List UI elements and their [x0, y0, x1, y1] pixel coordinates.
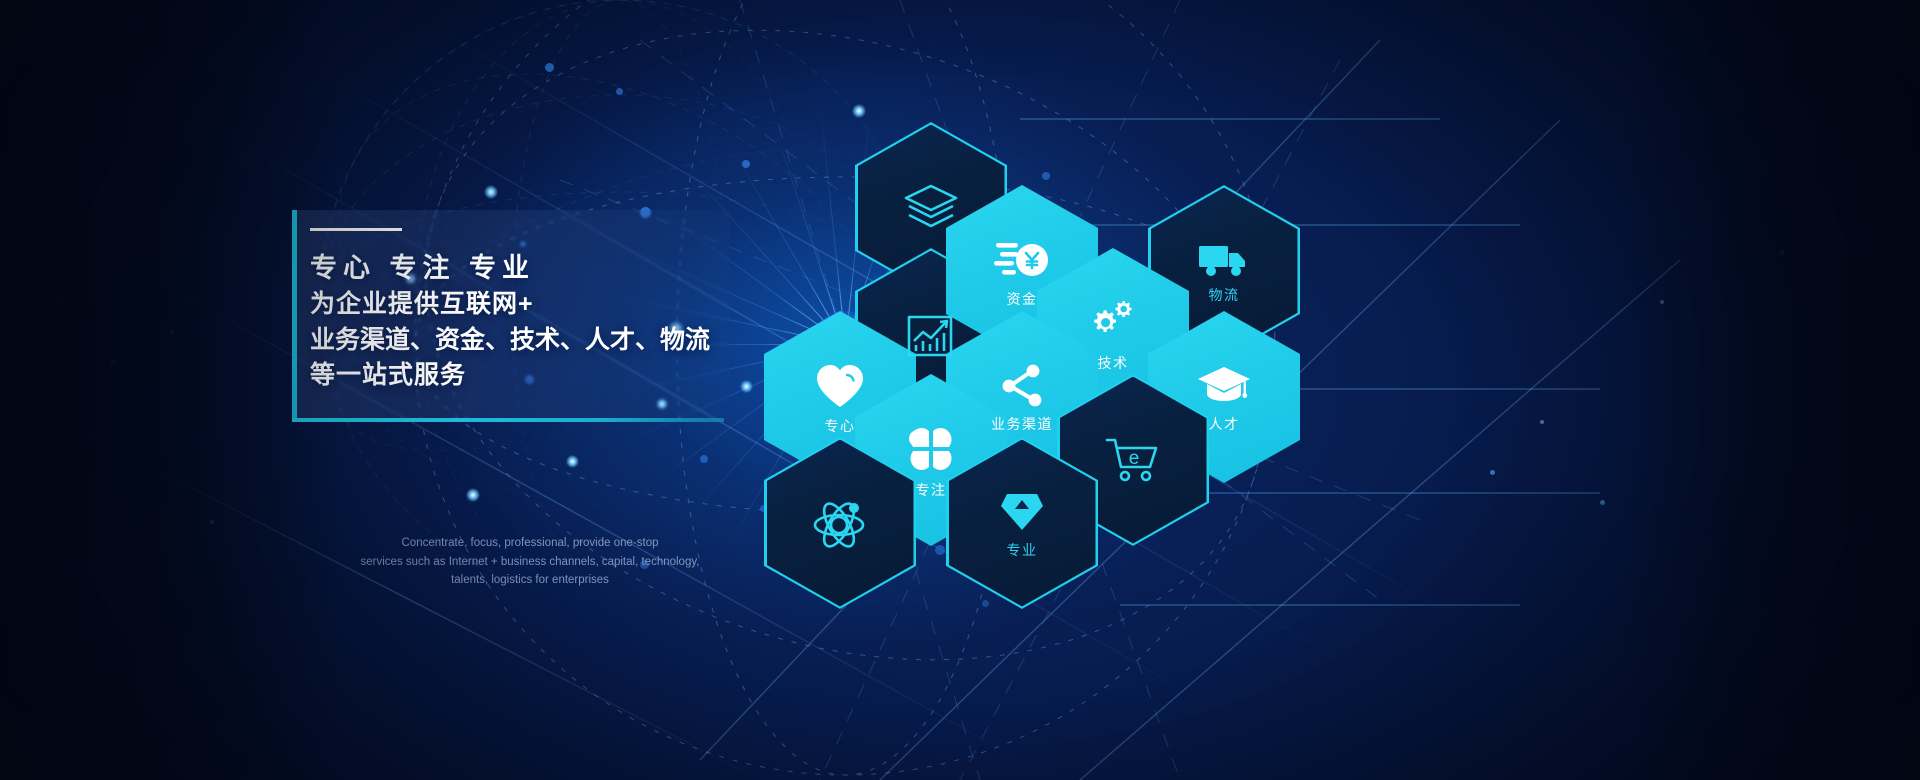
- hex-label: 物流: [1209, 288, 1240, 302]
- shopping-cart-e-icon: e: [1104, 435, 1162, 485]
- clover-icon: [906, 424, 956, 474]
- gears-icon: [1087, 299, 1139, 347]
- atom-icon: [812, 497, 868, 549]
- chart-growth-icon: [904, 307, 958, 361]
- graduation-cap-icon: [1197, 364, 1251, 408]
- hex-label: 技术: [1098, 356, 1129, 370]
- share-nodes-icon: [998, 364, 1046, 408]
- hex-label: 专注: [916, 483, 947, 497]
- hex-label: 资金: [1007, 292, 1038, 306]
- svg-text:e: e: [1129, 448, 1140, 469]
- heart-icon: [814, 362, 866, 410]
- global-vignette: [0, 0, 1920, 780]
- diamond-icon: [999, 490, 1045, 534]
- hex-label: 专心: [825, 419, 856, 433]
- layers-icon: [902, 182, 960, 234]
- truck-icon: [1198, 241, 1250, 279]
- hex-label: 专业: [1007, 543, 1038, 557]
- hex-label: 人才: [1209, 417, 1240, 431]
- banner-stage: 专心 专注 专业 为企业提供互联网+ 业务渠道、资金、技术、人才、物流 等一站式…: [0, 0, 1920, 780]
- yen-coin-icon: [994, 237, 1050, 283]
- hex-label: 业务渠道: [991, 417, 1053, 431]
